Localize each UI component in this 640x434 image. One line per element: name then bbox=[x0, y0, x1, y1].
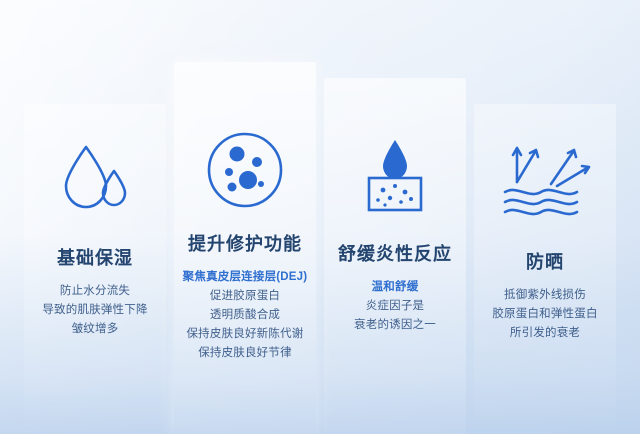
drop-in-container-icon bbox=[320, 128, 470, 228]
description-line: 导致的肌肤弹性下降 bbox=[42, 301, 147, 320]
description-line: 保持皮肤良好节律 bbox=[183, 344, 308, 363]
column-basic-moisturizing[interactable]: 基础保湿 防止水分流失 导致的肌肤弹性下降 皱纹增多 bbox=[20, 0, 170, 339]
column-title: 舒缓炎性反应 bbox=[338, 240, 452, 266]
column-container: 基础保湿 防止水分流失 导致的肌肤弹性下降 皱纹增多 bbox=[0, 0, 640, 434]
description-line-highlight: 温和舒缓 bbox=[354, 278, 436, 297]
description-line: 防止水分流失 bbox=[42, 282, 147, 301]
description-line: 保持皮肤良好新陈代谢 bbox=[183, 325, 308, 344]
description-line-highlight: 聚焦真皮层连接层(DEJ) bbox=[183, 268, 308, 287]
sun-rays-skin-icon bbox=[470, 132, 620, 232]
column-soothe-inflammation[interactable]: 舒缓炎性反应 温和舒缓 炎症因子是 衰老的诱因之一 bbox=[320, 0, 470, 335]
column-description: 防止水分流失 导致的肌肤弹性下降 皱纹增多 bbox=[42, 282, 147, 339]
description-line: 所引发的衰老 bbox=[492, 324, 597, 343]
column-title: 提升修护功能 bbox=[188, 230, 302, 256]
column-description: 抵御紫外线损伤 胶原蛋白和弹性蛋白 所引发的衰老 bbox=[492, 286, 597, 343]
column-repair-function[interactable]: 提升修护功能 聚焦真皮层连接层(DEJ) 促进胶原蛋白 透明质酸合成 保持皮肤良… bbox=[170, 0, 320, 363]
description-line: 胶原蛋白和弹性蛋白 bbox=[492, 305, 597, 324]
column-title: 基础保湿 bbox=[57, 244, 133, 270]
infographic-canvas: 基础保湿 防止水分流失 导致的肌肤弹性下降 皱纹增多 bbox=[0, 0, 640, 434]
description-line: 促进胶原蛋白 bbox=[183, 287, 308, 306]
description-line: 衰老的诱因之一 bbox=[354, 316, 436, 335]
column-description: 温和舒缓 炎症因子是 衰老的诱因之一 bbox=[354, 278, 436, 335]
column-sun-protection[interactable]: 防晒 抵御紫外线损伤 胶原蛋白和弹性蛋白 所引发的衰老 bbox=[470, 0, 620, 343]
column-description: 聚焦真皮层连接层(DEJ) 促进胶原蛋白 透明质酸合成 保持皮肤良好新陈代谢 保… bbox=[183, 268, 308, 363]
description-line: 抵御紫外线损伤 bbox=[492, 286, 597, 305]
column-title: 防晒 bbox=[526, 248, 564, 274]
cell-molecules-icon bbox=[170, 120, 320, 220]
description-line: 皱纹增多 bbox=[42, 320, 147, 339]
description-line: 透明质酸合成 bbox=[183, 306, 308, 325]
water-drops-icon bbox=[20, 130, 170, 230]
description-line: 炎症因子是 bbox=[354, 297, 436, 316]
